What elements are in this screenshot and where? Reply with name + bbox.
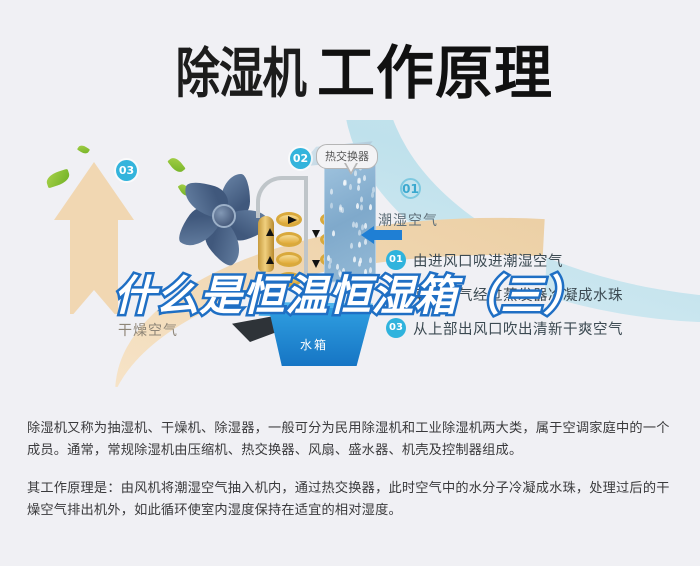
body-paragraph-1: 除湿机又称为抽湿机、干燥机、除湿器，一般可分为民用除湿机和工业除湿机两大类，属于… bbox=[27, 418, 677, 462]
diagram-badge-03: 03 bbox=[116, 160, 137, 181]
intake-arrow-icon bbox=[374, 230, 402, 240]
condensation-droplet bbox=[358, 178, 361, 184]
arrow-right-icon bbox=[288, 216, 297, 224]
arrow-down-icon bbox=[312, 230, 320, 238]
condensation-droplet bbox=[363, 175, 366, 181]
dry-air-label: 干燥空气 bbox=[118, 320, 178, 340]
body-copy: 除湿机又称为抽湿机、干燥机、除湿器，一般可分为民用除湿机和工业除湿机两大类，属于… bbox=[27, 418, 677, 522]
watermark-overlay-text: 什么是恒温恒湿箱（三） bbox=[0, 262, 700, 323]
condensation-droplet bbox=[360, 204, 363, 210]
infographic-page: 除湿机 工作原理 bbox=[0, 0, 700, 566]
condensation-droplet bbox=[332, 230, 335, 236]
diagram-badge-02: 02 bbox=[290, 148, 311, 169]
condensation-droplet bbox=[349, 184, 352, 190]
condensation-droplet bbox=[330, 202, 333, 208]
fan-hub bbox=[212, 204, 236, 228]
diagram-badge-01: 01 bbox=[400, 178, 421, 199]
pipe-arc bbox=[256, 176, 308, 218]
condensation-droplet bbox=[355, 222, 358, 228]
condensation-droplet bbox=[330, 188, 333, 194]
humid-air-label: 潮湿空气 bbox=[378, 210, 438, 230]
heat-exchanger-callout-pointer bbox=[344, 163, 358, 175]
page-title: 除湿机 工作原理 bbox=[0, 26, 700, 110]
condensation-droplet bbox=[356, 203, 359, 209]
arrow-up-icon bbox=[266, 228, 274, 236]
page-title-part2: 工作原理 bbox=[317, 26, 553, 110]
page-title-part1: 除湿机 bbox=[176, 29, 306, 108]
coil-loop bbox=[276, 232, 302, 247]
body-paragraph-2: 其工作原理是：由风机将潮湿空气抽入机内，通过热交换器，此时空气中的水分子冷凝成水… bbox=[27, 478, 677, 522]
water-tank-label: 水箱 bbox=[300, 336, 328, 353]
leaf-icon bbox=[77, 144, 90, 156]
condensation-droplet bbox=[360, 196, 363, 202]
condensation-droplet bbox=[372, 186, 375, 192]
condensation-droplet bbox=[357, 184, 360, 190]
condensation-droplet bbox=[350, 243, 353, 249]
condensation-droplet bbox=[369, 204, 372, 210]
